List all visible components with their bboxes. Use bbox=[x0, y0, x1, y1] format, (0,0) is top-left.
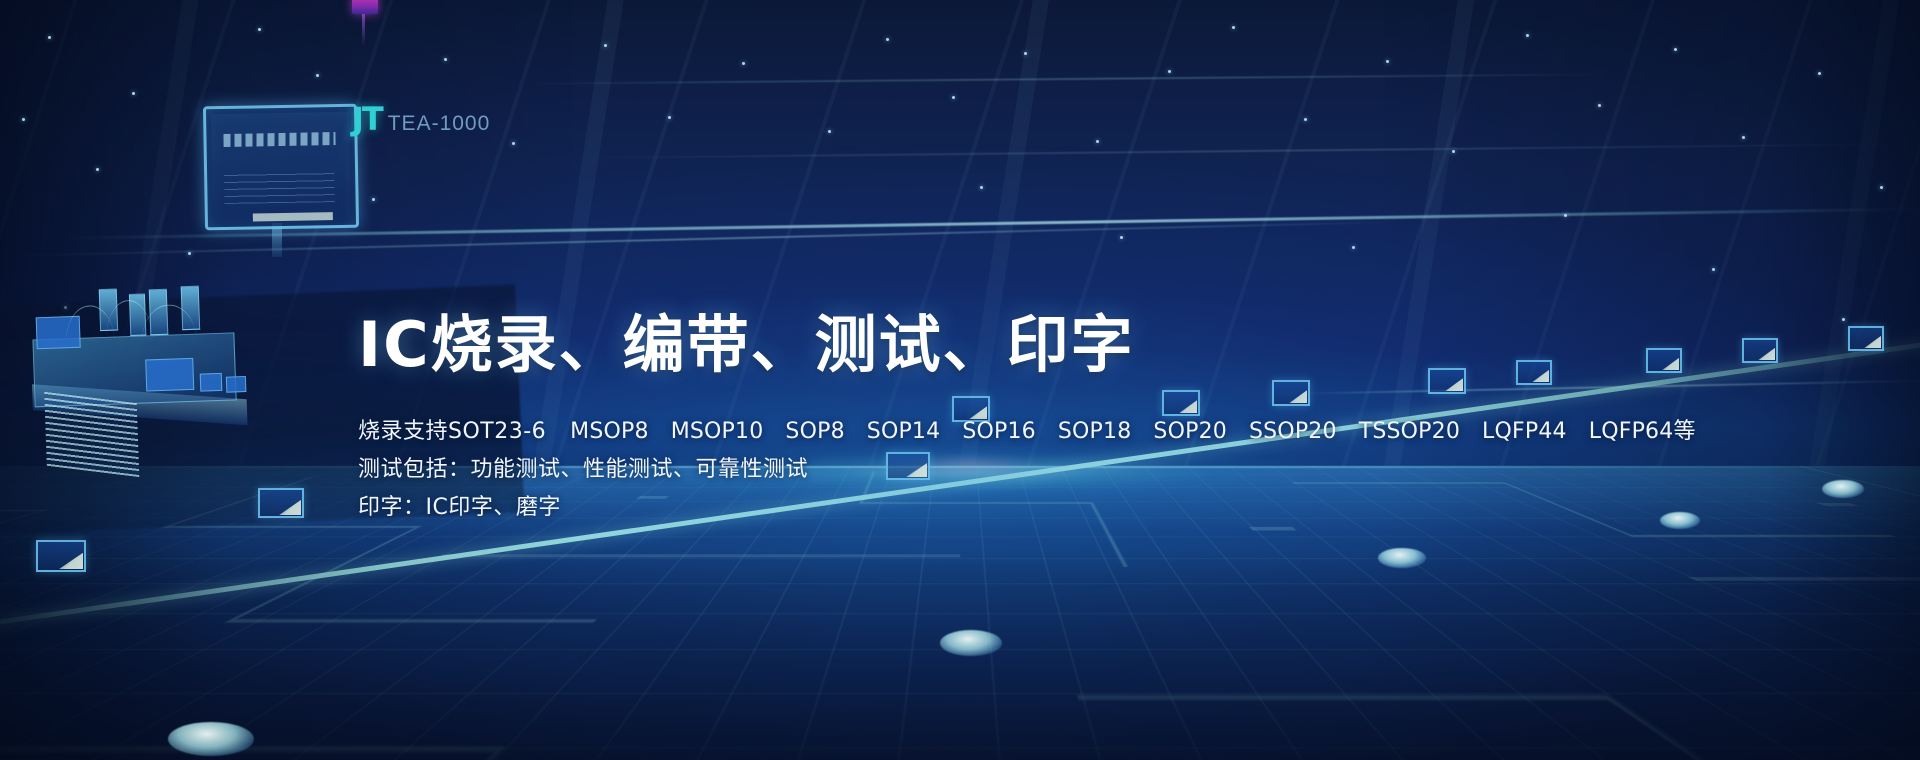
brand-mark-text: JT bbox=[352, 100, 382, 138]
equipment-cabinet bbox=[1848, 326, 1884, 351]
machinery-illustration bbox=[1, 284, 263, 483]
package-chip: SOP14 bbox=[867, 413, 941, 451]
monitor-screen bbox=[211, 112, 351, 222]
equipment-cabinet bbox=[258, 488, 304, 518]
page-title: IC烧录、编带、测试、印字 bbox=[358, 312, 1658, 379]
floor-light-pod bbox=[1378, 548, 1426, 568]
magenta-indicator-chip bbox=[352, 0, 378, 14]
floor-light-pod bbox=[940, 630, 1002, 656]
package-chip: SOP18 bbox=[1058, 413, 1132, 451]
hero-text-block: IC烧录、编带、测试、印字 烧录支持SOT23-6 MSOP8 MSOP10 S… bbox=[358, 312, 1658, 526]
equipment-cabinet bbox=[36, 540, 86, 572]
monitor-illustration bbox=[203, 104, 359, 231]
brand-model-text: TEA-1000 bbox=[388, 112, 491, 136]
package-chip: SSOP20 bbox=[1249, 413, 1337, 451]
overhead-cable bbox=[362, 12, 365, 46]
package-chip: LQFP44 bbox=[1482, 413, 1567, 451]
hero-banner: JT TEA-1000 IC烧录、编带、测试、印字 烧录支持SOT23-6 MS… bbox=[0, 0, 1920, 760]
package-chip: MSOP8 bbox=[570, 413, 649, 451]
brand-logo: JT TEA-1000 bbox=[352, 100, 490, 138]
feature-lines: 烧录支持SOT23-6 MSOP8 MSOP10 SOP8 SOP14 SOP1… bbox=[358, 413, 1658, 526]
packages-tail-text: 等 bbox=[1673, 413, 1696, 451]
floor-light-pod bbox=[1660, 512, 1700, 529]
marking-line: 印字：IC印字、磨字 bbox=[358, 489, 1658, 527]
package-chip: LQFP64 bbox=[1589, 413, 1674, 451]
package-chip: MSOP10 bbox=[671, 413, 764, 451]
package-chip: SOP20 bbox=[1153, 413, 1227, 451]
floor-light-pod bbox=[168, 722, 254, 756]
testing-line: 测试包括：功能测试、性能测试、可靠性测试 bbox=[358, 451, 1658, 489]
floor-light-pod bbox=[1822, 480, 1864, 498]
packages-line: 烧录支持SOT23-6 MSOP8 MSOP10 SOP8 SOP14 SOP1… bbox=[358, 413, 1658, 451]
packages-lead-text: 烧录支持SOT23-6 bbox=[358, 413, 546, 451]
package-chip: SOP8 bbox=[785, 413, 844, 451]
package-chip: SOP16 bbox=[962, 413, 1036, 451]
package-chip: TSSOP20 bbox=[1359, 413, 1460, 451]
equipment-cabinet bbox=[1742, 338, 1778, 363]
